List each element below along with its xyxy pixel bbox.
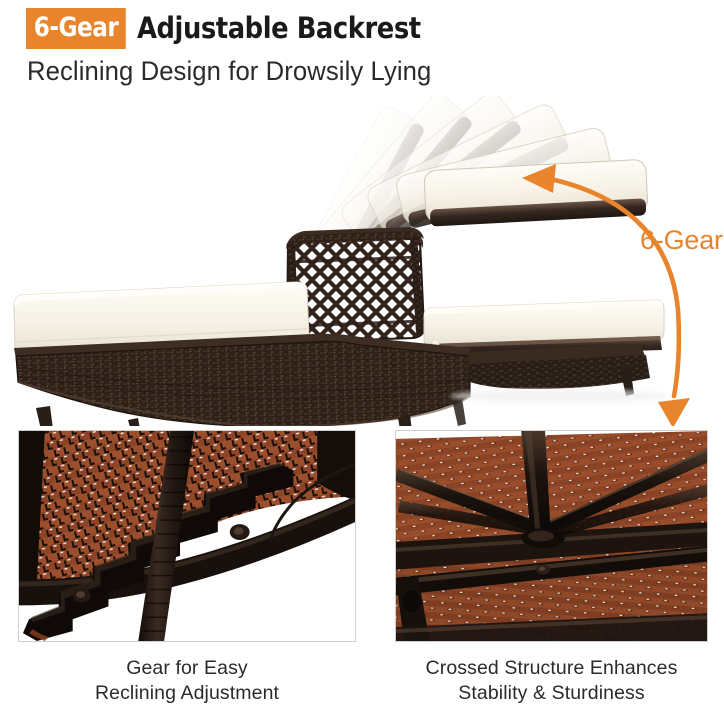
caption-line-2: Reclining Adjustment — [18, 681, 356, 706]
gear-mechanism-image — [19, 431, 355, 641]
page-subtitle: Reclining Design for Drowsily Lying — [27, 57, 431, 87]
crossed-structure-image — [396, 431, 707, 641]
detail-panels: Gear for Easy Reclining Adjustment — [0, 430, 724, 700]
caption-line-1: Crossed Structure Enhances — [395, 656, 708, 681]
headline-row: 6-Gear Adjustable Backrest — [26, 8, 456, 49]
header: 6-Gear Adjustable Backrest Reclining Des… — [0, 0, 724, 104]
gear-arc-label: 6-Gear — [640, 227, 723, 254]
gear-mechanism-caption: Gear for Easy Reclining Adjustment — [18, 656, 356, 706]
gear-mechanism-photo — [18, 430, 356, 642]
crossed-structure-photo — [395, 430, 708, 642]
chaise-lounge-illustration — [0, 96, 724, 426]
caption-line-1: Gear for Easy — [18, 656, 356, 681]
gear-count-badge: 6-Gear — [26, 8, 126, 49]
crossed-structure-caption: Crossed Structure Enhances Stability & S… — [395, 656, 708, 706]
panel-crossed-structure: Crossed Structure Enhances Stability & S… — [395, 430, 708, 706]
caption-line-2: Stability & Sturdiness — [395, 681, 708, 706]
panel-gear-mechanism: Gear for Easy Reclining Adjustment — [18, 430, 356, 706]
hero-product-scene: 6-Gear — [0, 96, 724, 426]
page-title: Adjustable Backrest — [137, 14, 421, 43]
